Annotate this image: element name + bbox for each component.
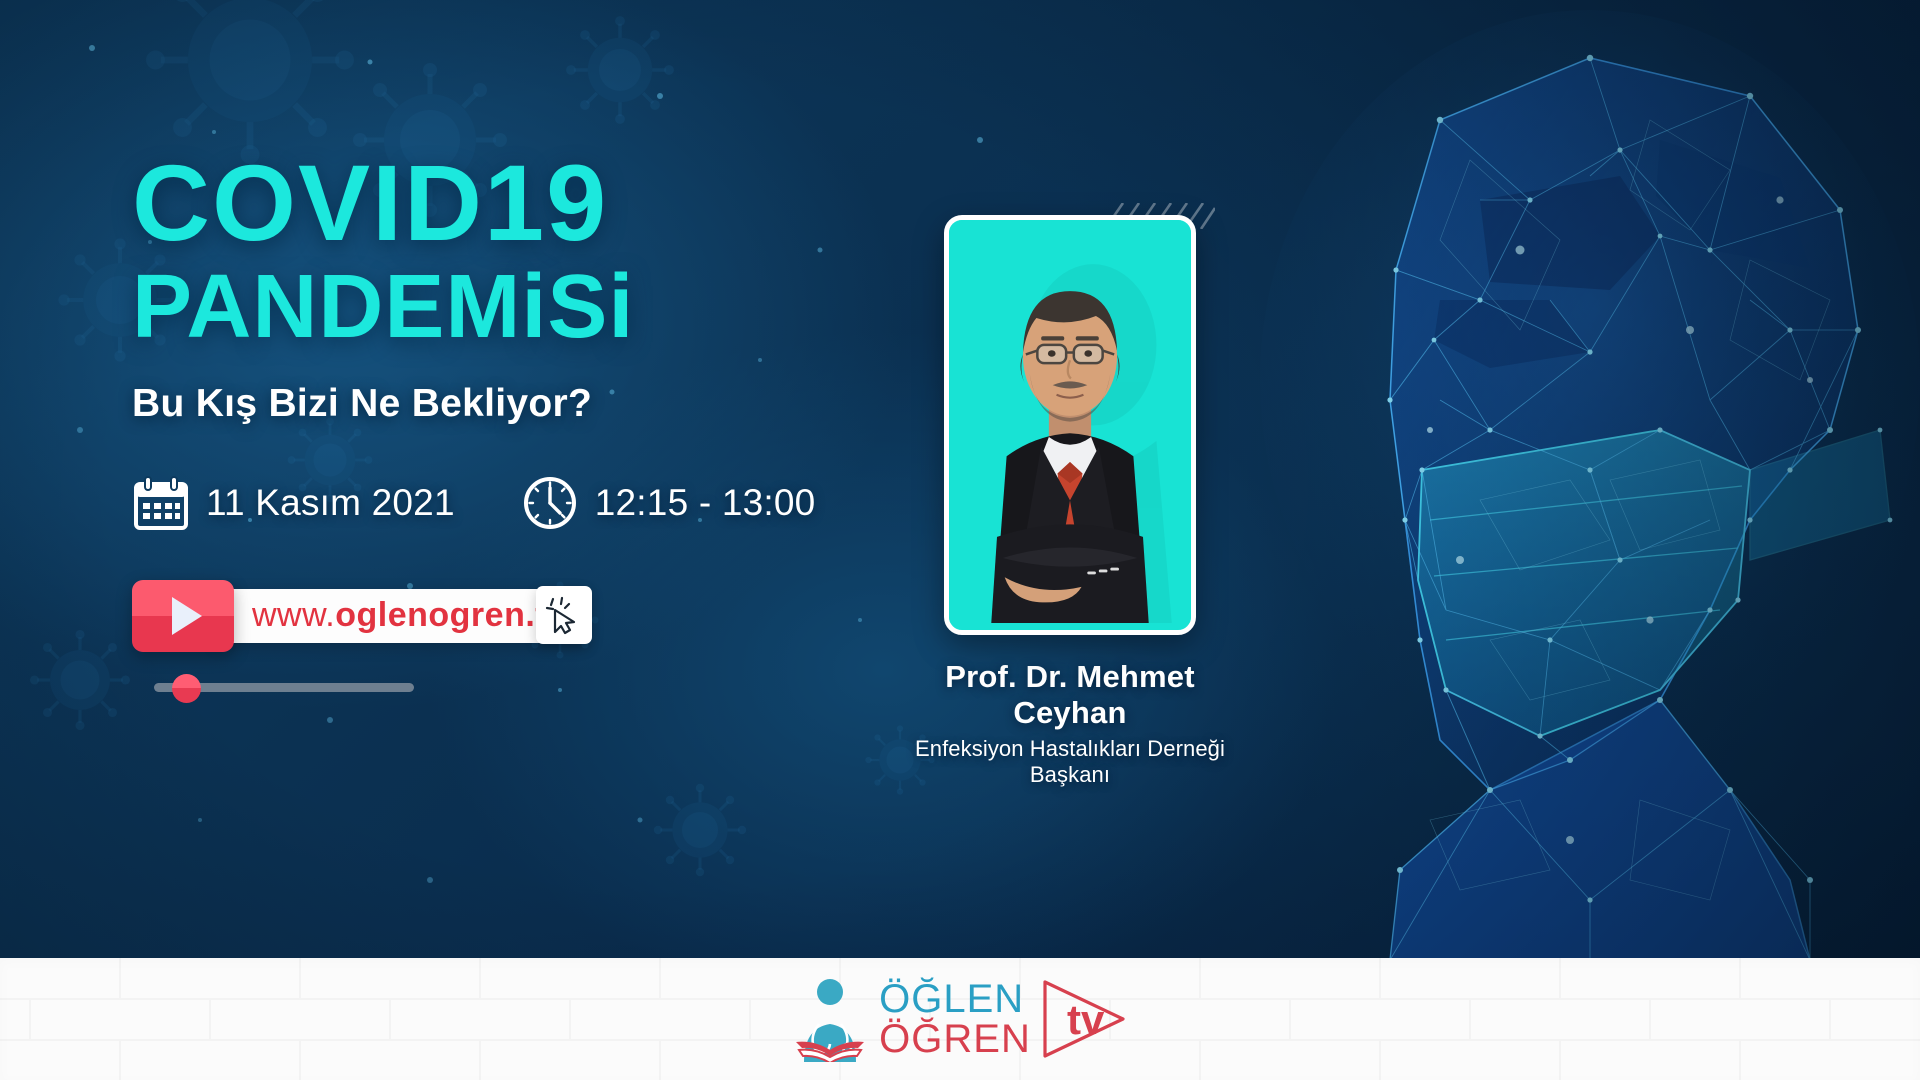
headline-block: COVID19 PANDEMiSi Bu Kış Bizi Ne Bekliyo… <box>132 150 852 708</box>
avatar <box>944 215 1196 635</box>
logo-tv-text: tv <box>1067 996 1105 1043</box>
clock-icon <box>521 474 579 532</box>
calendar-icon <box>132 474 190 532</box>
progress-scrubber[interactable] <box>154 668 414 708</box>
logo-line-2: ÖĞREN <box>879 1019 1031 1059</box>
speaker-block: Prof. Dr. Mehmet Ceyhan Enfeksiyon Hasta… <box>905 215 1235 788</box>
event-time-text: 12:15 - 13:00 <box>595 482 816 524</box>
play-button[interactable] <box>132 580 234 652</box>
cursor-badge <box>536 586 592 644</box>
watch-link-block[interactable]: www.oglenogren.tv <box>132 580 602 708</box>
url-prefix: www. <box>252 596 335 634</box>
url-domain: oglenogren <box>335 596 525 634</box>
event-meta-row: 11 Kasım 2021 12:15 - 13:00 <box>132 474 852 532</box>
webinar-promo-banner: COVID19 PANDEMiSi Bu Kış Bizi Ne Bekliyo… <box>0 0 1920 1080</box>
event-date: 11 Kasım 2021 <box>132 474 455 532</box>
speaker-portrait <box>949 220 1191 623</box>
logo-line-1: ÖĞLEN <box>879 979 1031 1019</box>
url-bar[interactable]: www.oglenogren.tv <box>216 589 585 643</box>
page-subtitle: PANDEMiSi <box>132 262 852 352</box>
speaker-name: Prof. Dr. Mehmet Ceyhan <box>905 659 1235 731</box>
tagline: Bu Kış Bizi Ne Bekliyor? <box>132 382 852 426</box>
tv-play-icon: tv <box>1037 976 1129 1062</box>
click-cursor-icon <box>545 595 583 635</box>
speaker-role: Enfeksiyon Hastalıkları Derneği Başkanı <box>905 736 1235 788</box>
footer: ÖĞLEN ÖĞREN tv <box>0 958 1920 1080</box>
doctor-book-icon <box>791 976 869 1062</box>
oglen-ogren-tv-logo[interactable]: ÖĞLEN ÖĞREN tv <box>791 976 1129 1062</box>
play-icon <box>172 597 202 635</box>
event-date-text: 11 Kasım 2021 <box>206 482 455 524</box>
url-text: www.oglenogren.tv <box>252 596 567 635</box>
page-title: COVID19 <box>132 150 852 256</box>
event-time: 12:15 - 13:00 <box>521 474 816 532</box>
progress-handle[interactable] <box>172 674 201 703</box>
logo-wordmark: ÖĞLEN ÖĞREN <box>879 979 1031 1059</box>
